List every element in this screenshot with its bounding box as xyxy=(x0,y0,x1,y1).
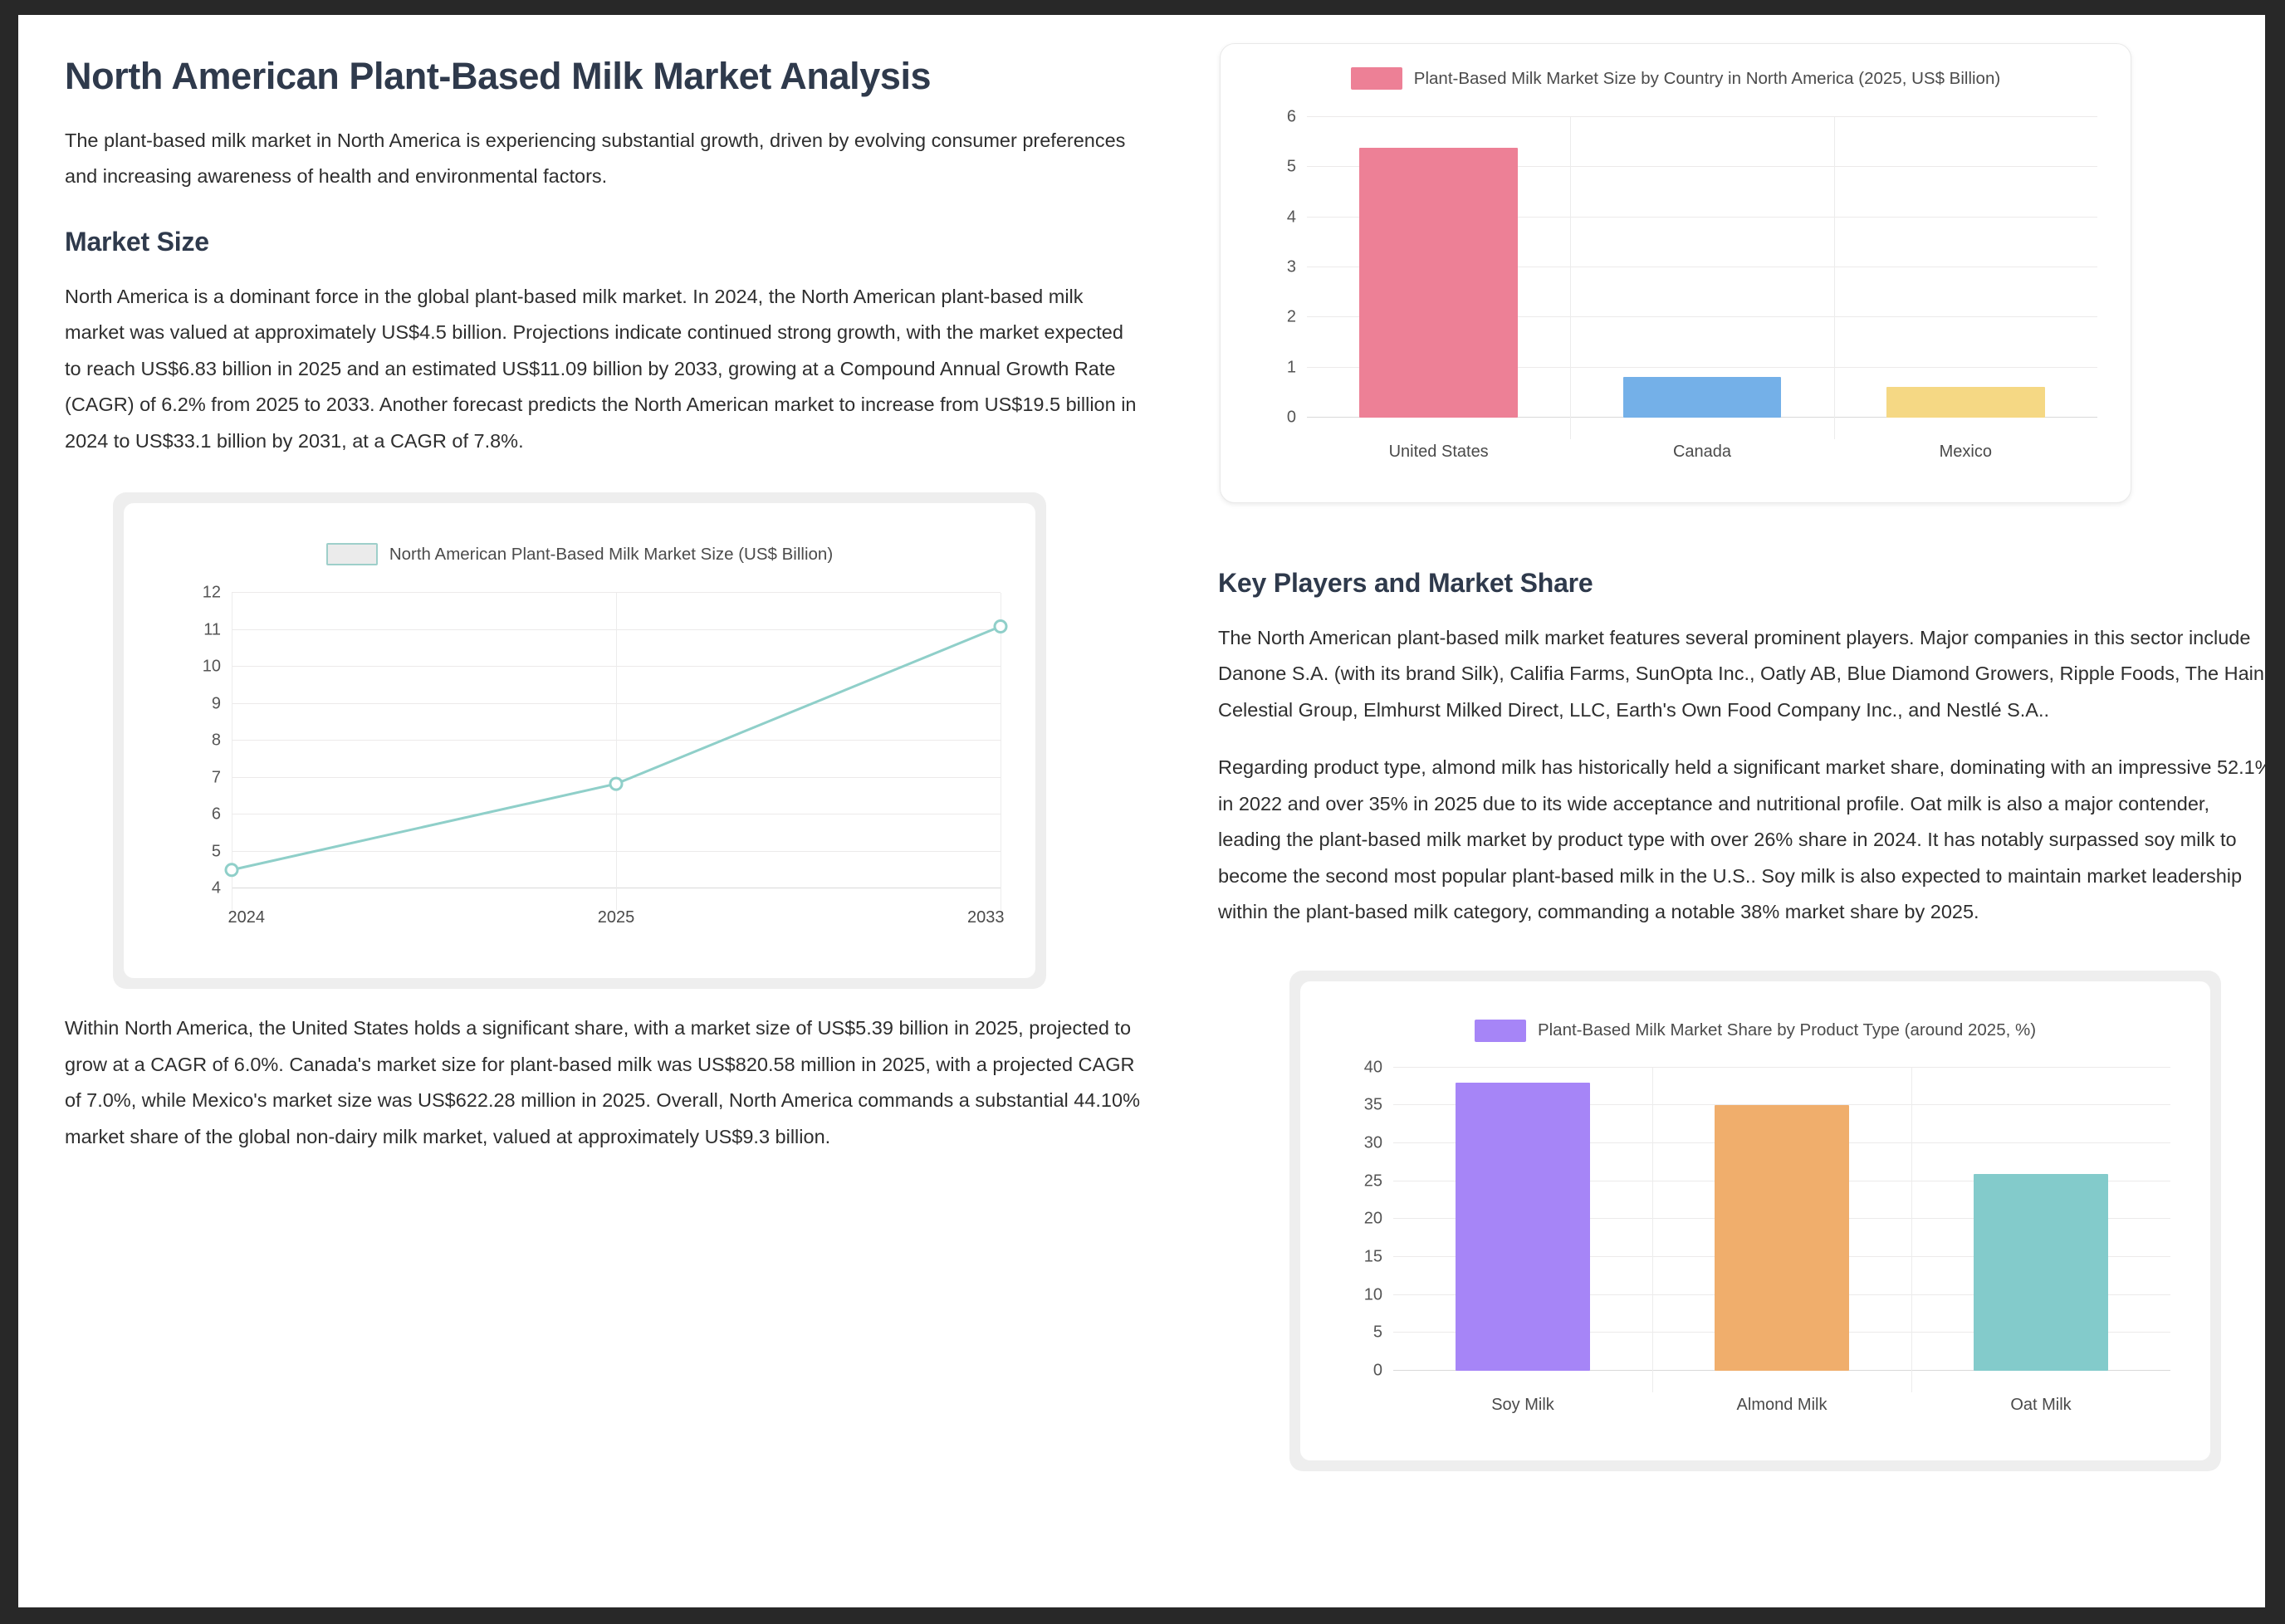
x-axis-tick-label: Canada xyxy=(1673,443,1731,462)
gridline xyxy=(1393,1067,2170,1068)
product-type-bar-chart-card: Plant-Based Milk Market Share by Product… xyxy=(1289,971,2221,1471)
y-axis-tick-label: 5 xyxy=(1287,158,1296,177)
x-axis-tick-label: Mexico xyxy=(1940,443,1992,462)
line-chart-plot: North American Plant-Based Milk Market S… xyxy=(124,503,1035,978)
document-page: North American Plant-Based Milk Market A… xyxy=(18,15,2265,1607)
intro-paragraph: The plant-based milk market in North Ame… xyxy=(65,123,1144,195)
product-chart-axes: 0510152025303540Soy MilkAlmond MilkOat M… xyxy=(1393,1068,2170,1371)
y-axis-tick-label: 7 xyxy=(212,768,221,787)
y-axis-tick-label: 10 xyxy=(203,658,221,677)
two-column-layout: North American Plant-Based Milk Market A… xyxy=(18,15,2265,1607)
y-axis-tick-label: 6 xyxy=(212,805,221,824)
y-axis-tick-label: 11 xyxy=(203,620,221,639)
line-chart-axes: 456789101112202420252033 xyxy=(232,593,1001,888)
x-axis-tick-label: Soy Milk xyxy=(1491,1396,1554,1415)
bar-oat-milk[interactable] xyxy=(1974,1174,2108,1371)
country-bar-chart-card: Plant-Based Milk Market Size by Country … xyxy=(1220,43,2131,503)
y-axis-tick-label: 1 xyxy=(1287,358,1296,377)
product-chart-legend: Plant-Based Milk Market Share by Product… xyxy=(1300,1020,2210,1042)
data-point-2024[interactable] xyxy=(226,864,237,876)
section-heading-market-size: Market Size xyxy=(65,227,1180,257)
y-axis-tick-label: 20 xyxy=(1364,1210,1382,1229)
y-axis-tick-label: 4 xyxy=(1287,208,1296,227)
right-column: Plant-Based Milk Market Size by Country … xyxy=(1218,43,2265,1607)
line-chart-legend: North American Plant-Based Milk Market S… xyxy=(124,543,1035,565)
y-axis-tick-label: 8 xyxy=(212,731,221,751)
market-size-paragraph-2: Within North America, the United States … xyxy=(65,1010,1144,1155)
key-players-paragraph-2: Regarding product type, almond milk has … xyxy=(1218,750,2265,930)
x-axis-tick-label: Almond Milk xyxy=(1737,1396,1828,1415)
y-axis-tick-label: 3 xyxy=(1287,258,1296,277)
data-point-2033[interactable] xyxy=(995,621,1006,633)
y-axis-tick-label: 6 xyxy=(1287,108,1296,127)
y-axis-tick-label: 9 xyxy=(212,694,221,713)
legend-swatch-icon xyxy=(1351,67,1402,90)
x-axis-tick-label: 2033 xyxy=(967,908,1005,927)
country-chart-axes: 0123456United StatesCanadaMexico xyxy=(1307,117,2097,418)
market-size-paragraph-1: North America is a dominant force in the… xyxy=(65,279,1144,459)
country-chart-legend-label: Plant-Based Milk Market Size by Country … xyxy=(1414,69,2000,89)
x-axis-tick-label: 2024 xyxy=(228,908,266,927)
country-chart-legend: Plant-Based Milk Market Size by Country … xyxy=(1221,67,2131,90)
product-chart-surface: Plant-Based Milk Market Share by Product… xyxy=(1300,981,2210,1460)
gridline xyxy=(1307,116,2097,117)
legend-swatch-icon xyxy=(326,543,378,565)
bar-almond-milk[interactable] xyxy=(1715,1105,1849,1370)
x-axis-tick-label: Oat Milk xyxy=(2010,1396,2071,1415)
y-axis-tick-label: 0 xyxy=(1287,408,1296,428)
product-chart-legend-label: Plant-Based Milk Market Share by Product… xyxy=(1538,1020,2036,1040)
line-chart-surface: North American Plant-Based Milk Market S… xyxy=(124,503,1035,978)
bar-united-states[interactable] xyxy=(1359,148,1517,418)
bar-soy-milk[interactable] xyxy=(1456,1083,1590,1371)
market-size-line-chart-card: North American Plant-Based Milk Market S… xyxy=(113,492,1046,989)
y-axis-tick-label: 15 xyxy=(1364,1247,1382,1266)
section-heading-key-players: Key Players and Market Share xyxy=(1218,568,2265,599)
line-chart-legend-label: North American Plant-Based Milk Market S… xyxy=(389,545,833,565)
page-title: North American Plant-Based Milk Market A… xyxy=(65,51,978,101)
bar-mexico[interactable] xyxy=(1886,387,2044,418)
category-separator xyxy=(1652,1068,1653,1392)
y-axis-tick-label: 5 xyxy=(1373,1323,1382,1343)
y-axis-tick-label: 5 xyxy=(212,842,221,861)
category-separator xyxy=(1570,117,1571,439)
left-column: North American Plant-Based Milk Market A… xyxy=(46,43,1188,1607)
product-chart-plot: Plant-Based Milk Market Share by Product… xyxy=(1300,981,2210,1460)
x-axis-tick-label: 2025 xyxy=(598,908,635,927)
y-axis-tick-label: 40 xyxy=(1364,1058,1382,1077)
y-axis-tick-label: 4 xyxy=(212,879,221,898)
line-series xyxy=(232,593,1001,888)
legend-swatch-icon xyxy=(1475,1020,1526,1042)
x-gridline xyxy=(1001,593,1001,910)
category-separator xyxy=(1834,117,1835,439)
y-axis-tick-label: 10 xyxy=(1364,1285,1382,1304)
y-axis-tick-label: 2 xyxy=(1287,308,1296,327)
y-axis-tick-label: 0 xyxy=(1373,1361,1382,1380)
y-axis-tick-label: 30 xyxy=(1364,1134,1382,1153)
key-players-paragraph-1: The North American plant-based milk mark… xyxy=(1218,620,2265,728)
country-chart-plot: Plant-Based Milk Market Size by Country … xyxy=(1221,44,2131,502)
y-axis-tick-label: 35 xyxy=(1364,1096,1382,1115)
bar-canada[interactable] xyxy=(1623,377,1781,418)
category-separator xyxy=(1911,1068,1912,1392)
data-point-2025[interactable] xyxy=(610,778,622,790)
y-axis-tick-label: 12 xyxy=(203,584,221,603)
y-axis-tick-label: 25 xyxy=(1364,1172,1382,1191)
x-axis-tick-label: United States xyxy=(1389,443,1489,462)
